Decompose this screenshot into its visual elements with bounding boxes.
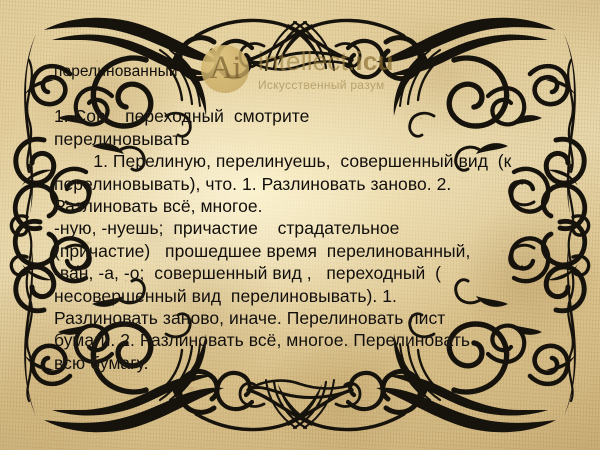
entry-headword: перелинованный [54, 62, 554, 81]
wavy-rule-left-bottom-icon [27, 297, 32, 401]
border-scroll-bottom-icon [180, 371, 420, 429]
wavy-rule-right-bottom-icon [568, 297, 573, 401]
wavy-rule-left-lower-icon [27, 60, 32, 172]
wavy-rule-left-icon [11, 165, 32, 297]
wavy-rule-right-icon [568, 165, 589, 297]
dictionary-entry: перелинованный 1. Сов. переходный смотри… [54, 62, 554, 374]
dictionary-entry-page: Аi intellect.icu Искусственный разум пер… [0, 0, 600, 450]
entry-body: 1. Сов. переходный смотрите перелиновыва… [54, 105, 554, 374]
wavy-rule-right-lower-icon [568, 60, 573, 172]
